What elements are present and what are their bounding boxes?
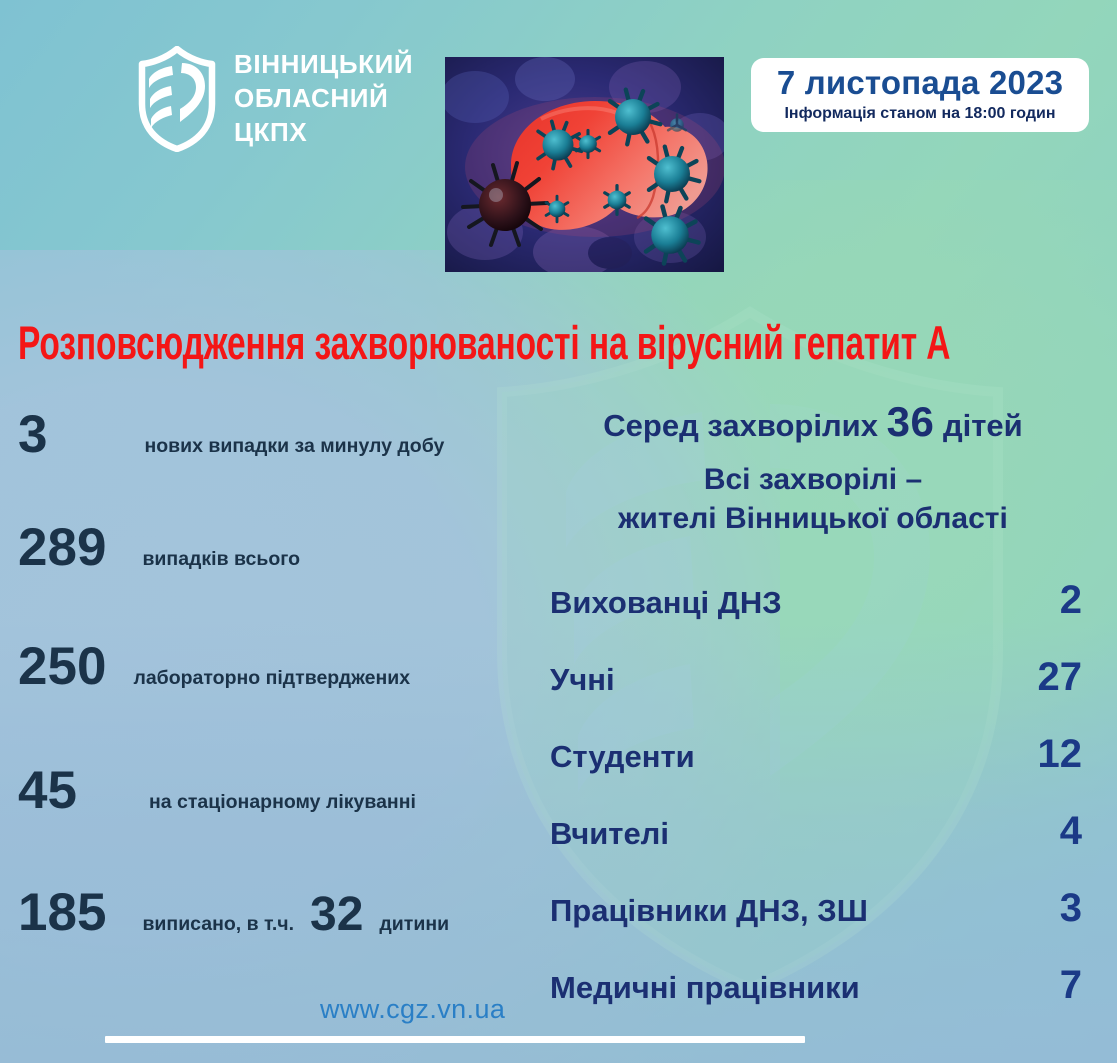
footer-divider — [105, 1036, 805, 1043]
logo-line-3: ЦКПХ — [234, 116, 413, 150]
children-count-value: 36 — [887, 398, 935, 445]
category-value: 2 — [1060, 580, 1082, 620]
category-label: Працівники ДНЗ, ЗШ — [550, 895, 868, 926]
website-url[interactable]: www.cgz.vn.ua — [320, 994, 505, 1025]
category-label: Медичні працівники — [550, 972, 860, 1003]
stat-label: лабораторно підтверджених — [133, 669, 410, 689]
list-item: Студенти 12 — [550, 734, 1082, 774]
stat-row-discharged: 185 виписано, в т.ч. 32 дитини — [18, 886, 449, 939]
logo-text: ВІННИЦЬКИЙ ОБЛАСНИЙ ЦКПХ — [234, 48, 413, 149]
stat-value-children: 32 — [310, 891, 363, 939]
children-among-cases: Серед захворілих 36 дітей — [524, 398, 1102, 446]
category-value: 4 — [1060, 811, 1082, 851]
category-label: Учні — [550, 664, 615, 695]
list-item: Медичні працівники 7 — [550, 965, 1082, 1005]
stat-label: на стаціонарному лікуванні — [149, 793, 416, 813]
residents-note: Всі захворілі – жителі Вінницької област… — [524, 460, 1102, 538]
children-suffix-label: дітей — [943, 408, 1023, 443]
stat-label: нових випадки за минулу добу — [144, 437, 444, 457]
hepatitis-liver-virus-image — [445, 57, 724, 272]
stat-label: виписано, в т.ч. — [142, 915, 294, 935]
stat-label: випадків всього — [142, 550, 300, 570]
stat-row-lab-confirmed: 250 лабораторно підтверджених — [18, 640, 410, 693]
residents-line-2: жителі Вінницької області — [524, 499, 1102, 538]
stat-value: 185 — [18, 886, 106, 939]
list-item: Працівники ДНЗ, ЗШ 3 — [550, 888, 1082, 928]
logo-line-1: ВІННИЦЬКИЙ — [234, 48, 413, 82]
stat-row-total-cases: 289 випадків всього — [18, 521, 300, 574]
stat-label-children: дитини — [379, 915, 449, 935]
category-value: 3 — [1060, 888, 1082, 928]
stat-value: 3 — [18, 408, 47, 461]
stat-row-new-cases: 3 нових випадки за минулу добу — [18, 408, 444, 461]
list-item: Учні 27 — [550, 657, 1082, 697]
infographic-poster: ВІННИЦЬКИЙ ОБЛАСНИЙ ЦКПХ — [0, 0, 1117, 1063]
stat-value: 250 — [18, 640, 106, 693]
stat-row-hospitalized: 45 на стаціонарному лікуванні — [18, 764, 416, 817]
list-item: Вчителі 4 — [550, 811, 1082, 851]
list-item: Вихованці ДНЗ 2 — [550, 580, 1082, 620]
report-time-note: Інформація станом на 18:00 годин — [761, 104, 1079, 123]
logo-line-2: ОБЛАСНИЙ — [234, 82, 413, 116]
report-date: 7 листопада 2023 — [761, 65, 1079, 102]
page-title: Розповсюдження захворюваності на вірусни… — [18, 318, 1108, 372]
residents-line-1: Всі захворілі – — [524, 460, 1102, 499]
category-value: 27 — [1038, 657, 1083, 697]
date-badge: 7 листопада 2023 Інформація станом на 18… — [751, 58, 1089, 132]
category-label: Вчителі — [550, 818, 669, 849]
right-summary-header: Серед захворілих 36 дітей Всі захворілі … — [524, 398, 1102, 538]
children-prefix-label: Серед захворілих — [603, 408, 878, 443]
shield-logo-icon — [138, 46, 216, 152]
category-value: 12 — [1038, 734, 1083, 774]
stat-value: 289 — [18, 521, 106, 574]
category-label: Студенти — [550, 741, 695, 772]
organization-logo: ВІННИЦЬКИЙ ОБЛАСНИЙ ЦКПХ — [138, 46, 413, 152]
category-label: Вихованці ДНЗ — [550, 587, 782, 618]
stat-value: 45 — [18, 764, 77, 817]
category-value: 7 — [1060, 965, 1082, 1005]
